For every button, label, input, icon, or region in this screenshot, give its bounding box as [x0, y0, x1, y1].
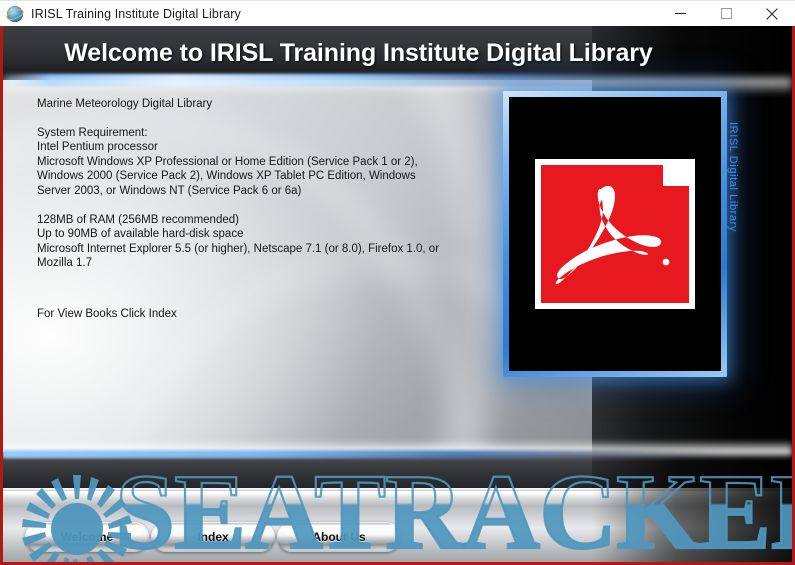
- content-text-block: Marine Meteorology Digital Library Syste…: [37, 97, 447, 271]
- welcome-button-label: Welcome: [61, 530, 113, 544]
- globe-disc-icon: [7, 6, 23, 22]
- window-title-bar: IRISL Training Institute Digital Library: [0, 0, 795, 26]
- content-subtitle: Marine Meteorology Digital Library: [37, 97, 447, 112]
- pdf-preview-panel: [503, 91, 727, 377]
- spec-browser: Microsoft Internet Explorer 5.5 (or high…: [37, 242, 447, 271]
- maximize-icon[interactable]: [703, 1, 749, 27]
- slide-stage: Welcome to IRISL Training Institute Digi…: [3, 26, 792, 562]
- spec-disk: Up to 90MB of available hard-disk space: [37, 227, 447, 242]
- spec-ram: 128MB of RAM (256MB recommended): [37, 213, 447, 228]
- call-to-action-text: For View Books Click Index: [37, 308, 177, 320]
- close-icon[interactable]: [749, 1, 795, 27]
- footer-right-shade: [592, 488, 792, 562]
- navigation-button-row: Welcome Index About Us: [3, 522, 592, 552]
- side-vertical-label: IRISL Digital Library: [727, 122, 739, 232]
- application-window: IRISL Training Institute Digital Library: [0, 0, 795, 565]
- about-us-button[interactable]: About Us: [277, 522, 401, 552]
- requirement-processor: Intel Pentium processor: [37, 140, 447, 155]
- pdf-panel-inner: [509, 97, 721, 371]
- adobe-acrobat-pdf-icon: [535, 159, 695, 309]
- welcome-button[interactable]: Welcome: [25, 522, 149, 552]
- window-controls: [657, 1, 795, 27]
- window-title: IRISL Training Institute Digital Library: [31, 7, 241, 21]
- footer-blue-edge: [3, 450, 792, 458]
- requirement-os: Microsoft Windows XP Professional or Hom…: [37, 155, 447, 199]
- requirements-heading: System Requirement:: [37, 126, 447, 141]
- window-frame: Welcome to IRISL Training Institute Digi…: [0, 26, 795, 565]
- index-button-label: Index: [197, 530, 228, 544]
- footer-bar: Welcome Index About Us: [3, 452, 792, 562]
- index-button[interactable]: Index: [151, 522, 275, 552]
- page-title: Welcome to IRISL Training Institute Digi…: [3, 26, 792, 80]
- minimize-icon[interactable]: [657, 1, 703, 27]
- about-us-button-label: About Us: [312, 530, 365, 544]
